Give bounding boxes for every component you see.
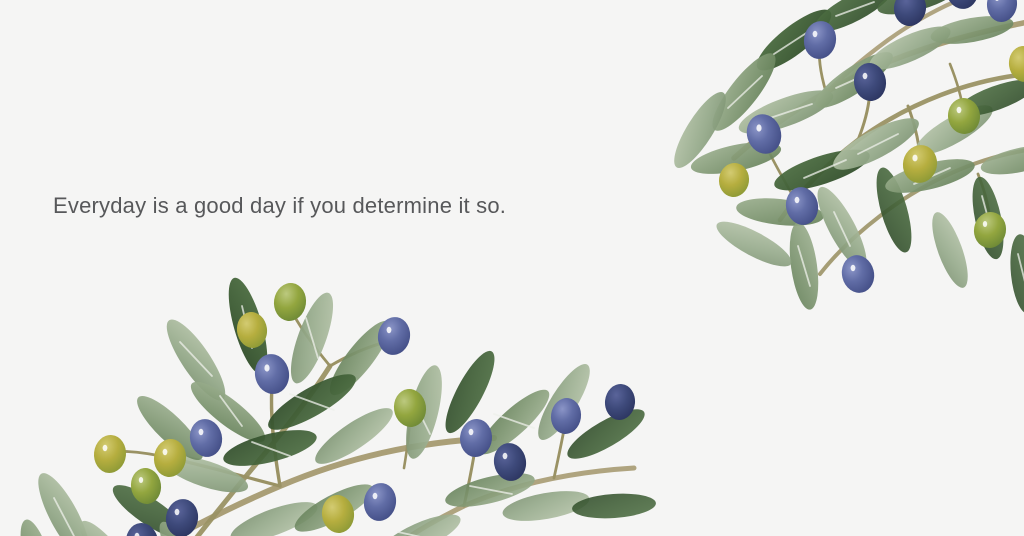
branch-stems-bottom-left (64, 308, 634, 536)
leaves-top-right (666, 0, 1024, 315)
quote-text: Everyday is a good day if you determine … (53, 193, 506, 219)
olives-top-right (717, 0, 1024, 296)
olive-branch-bottom-left-illustration (0, 206, 654, 536)
leaves-bottom-left (13, 274, 656, 536)
poster-canvas: Everyday is a good day if you determine … (0, 0, 1024, 536)
olives-bottom-left (92, 281, 637, 536)
branch-stems-top-right (734, 0, 1024, 274)
olive-branch-top-right-illustration (558, 0, 1024, 414)
